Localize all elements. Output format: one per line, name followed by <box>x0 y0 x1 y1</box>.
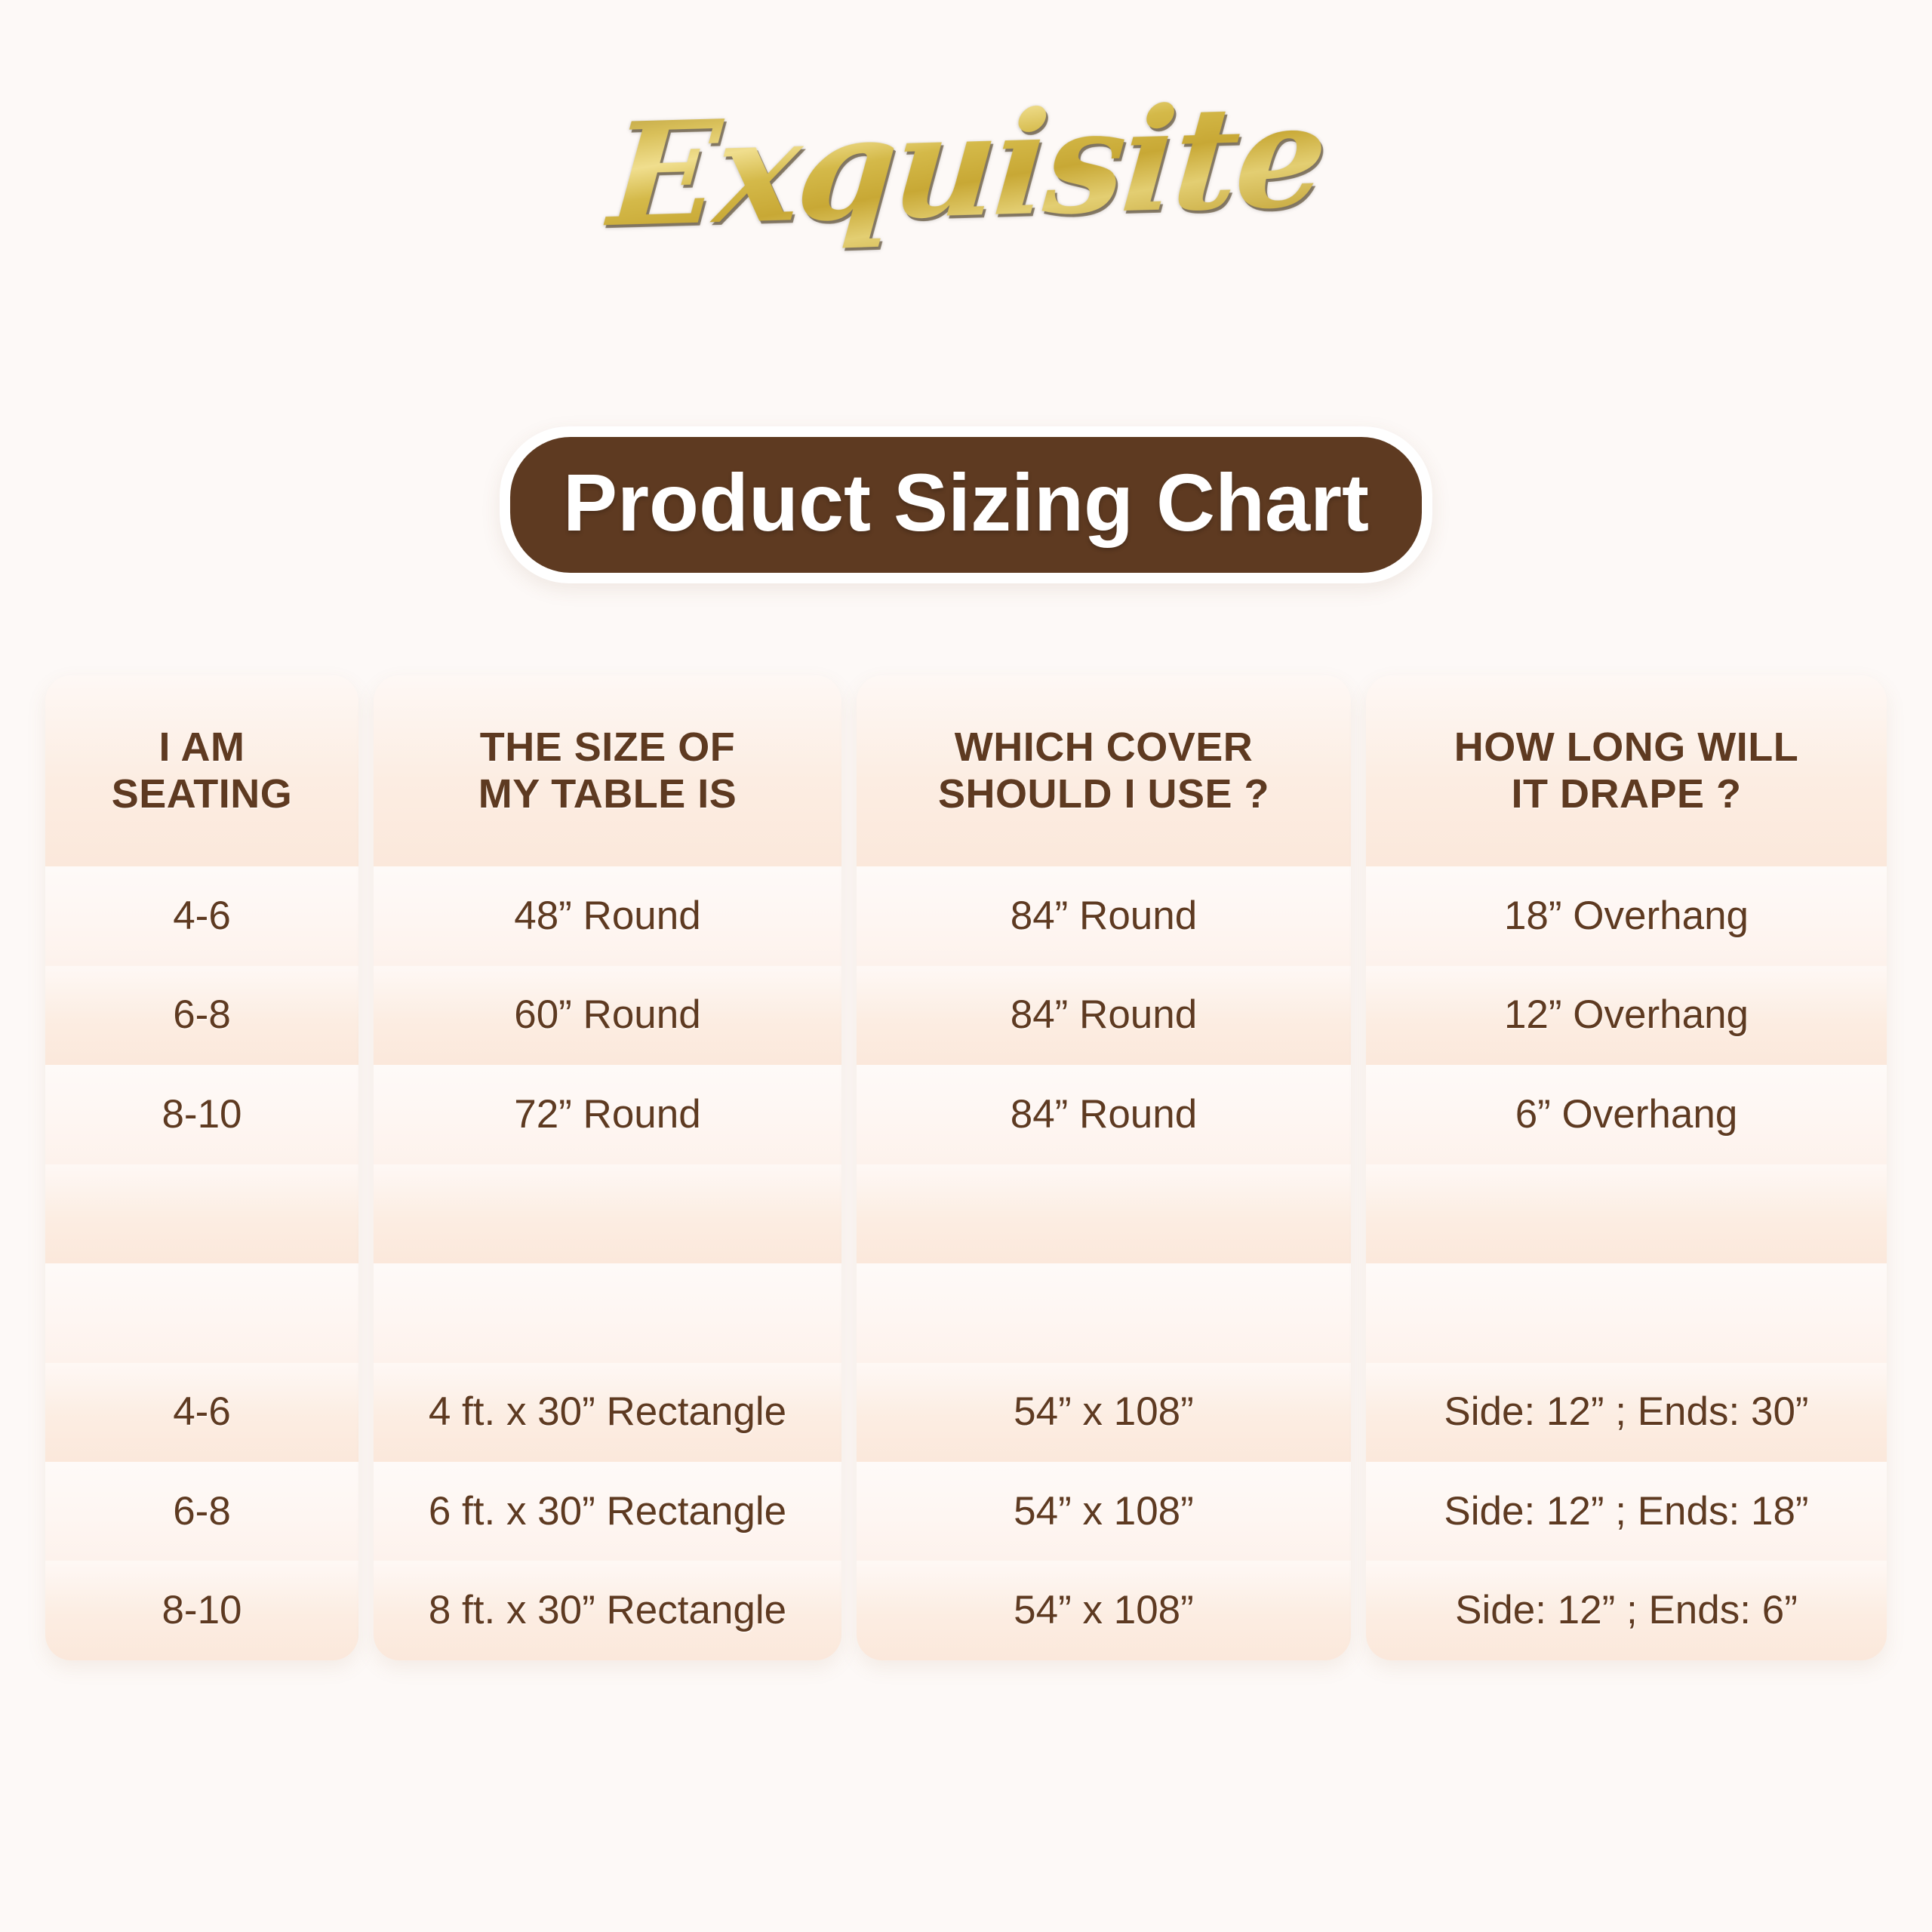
table-cell: 84” Round <box>857 1065 1351 1164</box>
page-title-banner: Product Sizing Chart <box>500 426 1432 583</box>
column-header-line1: THE SIZE OF <box>478 724 737 771</box>
table-cell: Side: 12” ; Ends: 18” <box>1366 1462 1887 1561</box>
table-cell: 6” Overhang <box>1366 1065 1887 1164</box>
table-cell: 54” x 108” <box>857 1462 1351 1561</box>
table-cell: 54” x 108” <box>857 1561 1351 1660</box>
table-cell: 54” x 108” <box>857 1363 1351 1462</box>
column-header-the-size-of-my-table-is: THE SIZE OF MY TABLE IS <box>374 675 841 866</box>
table-cell: Side: 12” ; Ends: 30” <box>1366 1363 1887 1462</box>
table-cell: 8 ft. x 30” Rectangle <box>374 1561 841 1660</box>
table-spacer-row <box>857 1263 1351 1362</box>
table-spacer-row <box>45 1263 358 1362</box>
table-cell: 72” Round <box>374 1065 841 1164</box>
table-cell: 12” Overhang <box>1366 966 1887 1065</box>
table-cell: Side: 12” ; Ends: 6” <box>1366 1561 1887 1660</box>
brand-logo-text: Exquisite <box>588 85 1344 269</box>
column-header-line2: IT DRAPE ? <box>1454 771 1798 818</box>
table-spacer-row <box>374 1263 841 1362</box>
column-header-line1: HOW LONG WILL <box>1454 724 1798 771</box>
table-cell: 8-10 <box>45 1561 358 1660</box>
column-header-which-cover-should-i-use: WHICH COVER SHOULD I USE ? <box>857 675 1351 866</box>
table-spacer-row <box>1366 1164 1887 1263</box>
column-header-i-am-seating: I AM SEATING <box>45 675 358 866</box>
table-column-i-am-seating: I AM SEATING 4-6 6-8 8-10 4-6 6-8 8-10 <box>45 675 358 1660</box>
table-cell: 18” Overhang <box>1366 866 1887 965</box>
table-cell: 48” Round <box>374 866 841 965</box>
table-column-how-long-will-it-drape: HOW LONG WILL IT DRAPE ? 18” Overhang 12… <box>1366 675 1887 1660</box>
page-title: Product Sizing Chart <box>563 460 1369 546</box>
table-column-which-cover-should-i-use: WHICH COVER SHOULD I USE ? 84” Round 84”… <box>857 675 1351 1660</box>
table-cell: 4-6 <box>45 866 358 965</box>
column-header-line1: I AM <box>112 724 293 771</box>
table-cell: 6 ft. x 30” Rectangle <box>374 1462 841 1561</box>
table-cell: 4-6 <box>45 1363 358 1462</box>
table-spacer-row <box>1366 1263 1887 1362</box>
table-column-the-size-of-my-table-is: THE SIZE OF MY TABLE IS 48” Round 60” Ro… <box>374 675 841 1660</box>
table-spacer-row <box>45 1164 358 1263</box>
table-cell: 4 ft. x 30” Rectangle <box>374 1363 841 1462</box>
table-cell: 6-8 <box>45 966 358 1065</box>
column-header-line2: SEATING <box>112 771 293 818</box>
table-spacer-row <box>857 1164 1351 1263</box>
page-title-banner-inner: Product Sizing Chart <box>510 437 1422 573</box>
table-cell: 84” Round <box>857 866 1351 965</box>
table-cell: 8-10 <box>45 1065 358 1164</box>
column-header-line2: MY TABLE IS <box>478 771 737 818</box>
column-header-line2: SHOULD I USE ? <box>938 771 1269 818</box>
table-cell: 84” Round <box>857 966 1351 1065</box>
column-header-line1: WHICH COVER <box>938 724 1269 771</box>
table-cell: 60” Round <box>374 966 841 1065</box>
sizing-chart-table: I AM SEATING 4-6 6-8 8-10 4-6 6-8 8-10 T… <box>45 675 1887 1660</box>
column-header-how-long-will-it-drape: HOW LONG WILL IT DRAPE ? <box>1366 675 1887 866</box>
table-cell: 6-8 <box>45 1462 358 1561</box>
brand-logo: Exquisite <box>0 91 1932 264</box>
table-spacer-row <box>374 1164 841 1263</box>
